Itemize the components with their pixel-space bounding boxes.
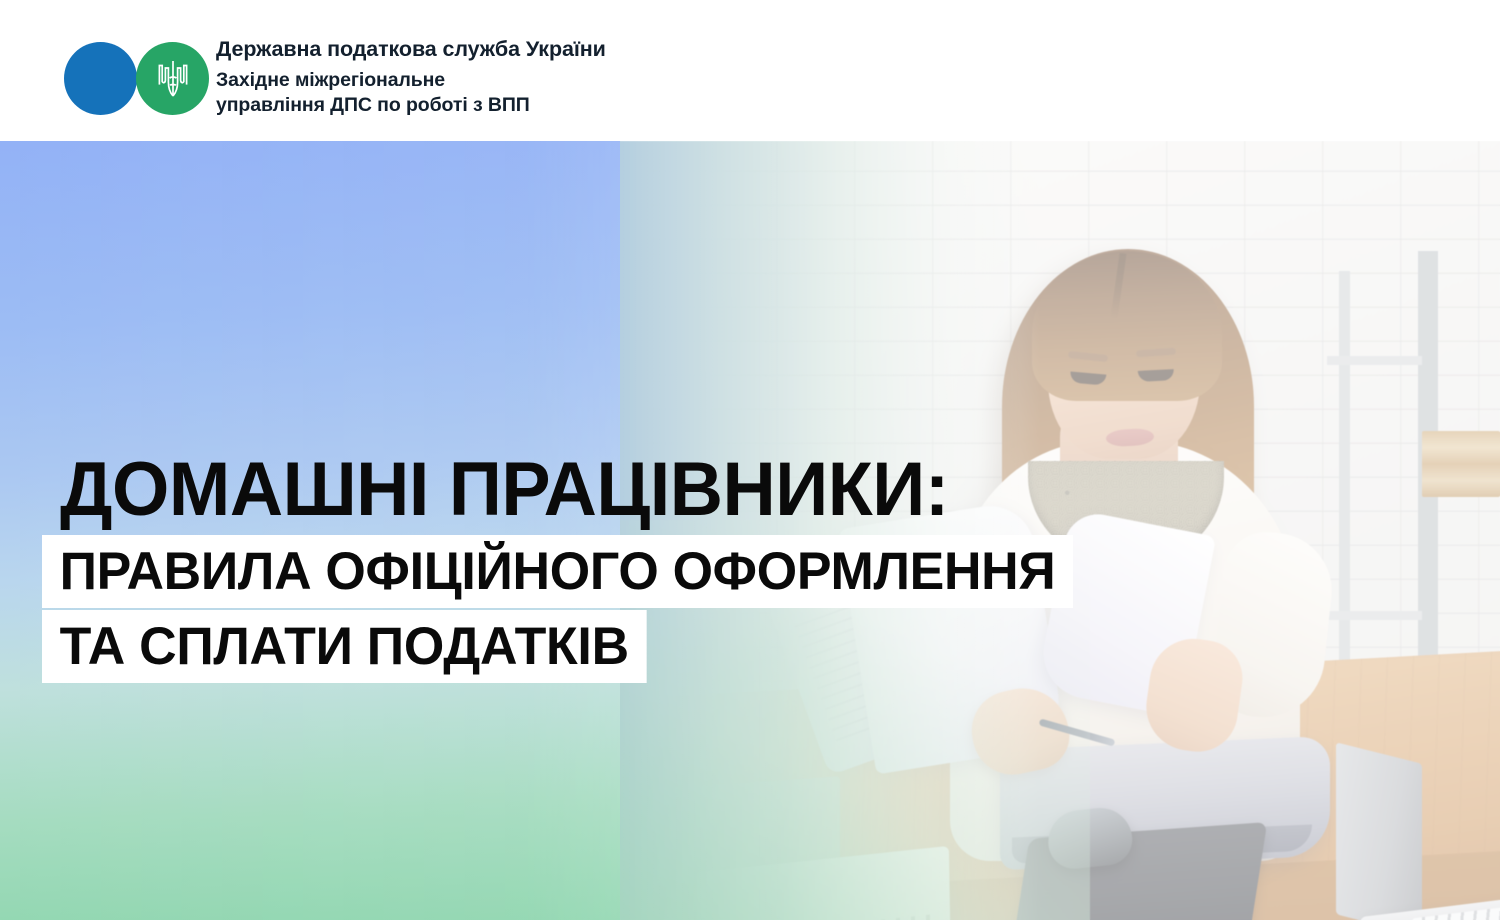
banner-title-highlights: ПРАВИЛА ОФІЦІЙНОГО ОФОРМЛЕННЯ ТА СПЛАТИ … [42, 535, 1094, 683]
banner-stage: ДОМАШНІ ПРАЦІВНИКИ: ПРАВИЛА ОФІЦІЙНОГО О… [0, 141, 1500, 920]
logo-blue-circle [64, 42, 137, 115]
banner-title-highlight-line-1: ПРАВИЛА ОФІЦІЙНОГО ОФОРМЛЕННЯ [42, 535, 1073, 608]
banner-canvas: Державна податкова служба України Західн… [0, 0, 1500, 920]
books-stack [1422, 431, 1500, 497]
organization-name: Державна податкова служба України Західн… [216, 36, 606, 117]
shelf-brace [1327, 611, 1422, 620]
site-header: Державна податкова служба України Західн… [0, 0, 1500, 141]
banner-title-main: ДОМАШНІ ПРАЦІВНИКИ: [60, 449, 949, 531]
ukraine-trident-icon [156, 56, 190, 101]
laptop-lid [1336, 742, 1422, 920]
org-title-sub-line-1: Західне міжрегіональне [216, 68, 606, 93]
dps-logo[interactable] [64, 42, 210, 116]
banner-title-highlight-line-2: ТА СПЛАТИ ПОДАТКІВ [42, 610, 646, 683]
org-title-sub-line-2: управління ДПС по роботі з ВПП [216, 93, 606, 118]
org-title-main: Державна податкова служба України [216, 36, 606, 62]
shelf-brace [1327, 356, 1422, 365]
